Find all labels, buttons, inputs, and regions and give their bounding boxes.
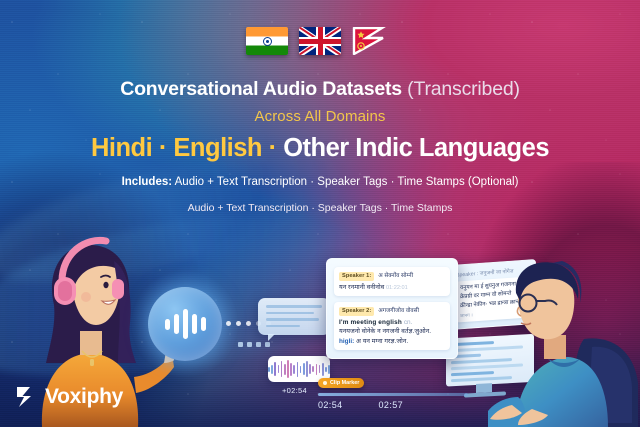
speaker-1-header: Speaker 1: अ सेक्नोंव सोम्नी: [339, 271, 445, 281]
feature-subline: Audio + Text Transcription · Speaker Tag…: [0, 202, 640, 214]
voxiphy-mark-icon: [16, 385, 38, 409]
timeline-time-start: 02:54: [318, 400, 343, 410]
headline-subtitle: Across All Domains: [0, 108, 640, 125]
includes-label: Includes:: [122, 176, 172, 188]
transcript-row-speaker-1[interactable]: Speaker 1: अ सेक्नोंव सोम्नी यन रनमानी व…: [334, 267, 450, 296]
speaker-1-body-text: यन रनमानी वनीनोव: [339, 284, 384, 291]
transcript-row-speaker-2[interactable]: Speaker 2: अगजगीजोव वोवसी I'm meeting en…: [334, 302, 450, 350]
timeline-timestamps: 02:54 02:57: [318, 400, 468, 410]
speaker-1-head-text: अ सेक्नोंव सोम्नी: [378, 271, 413, 279]
headline-primary-bold: Conversational Audio Datasets: [120, 78, 402, 100]
audio-waveform-icon: [148, 287, 222, 361]
ashoka-chakra-icon: [263, 37, 272, 46]
speaker-2-english-1: I'm meeting: [339, 319, 376, 326]
language-hindi: Hindi: [91, 134, 152, 162]
speaker-2-line-2: यनयजनो वोनेके न नगजनी वर्तज्ञ.जुओन.: [339, 327, 445, 337]
speaker-2-head-text: अगजगीजोव वोवसी: [378, 306, 419, 314]
brand-logo: Voxiphy: [16, 385, 123, 409]
waveform-timestamp: +02:54: [282, 386, 307, 395]
voice-orb: [148, 287, 222, 361]
language-other: Other Indic Languages: [283, 134, 549, 162]
speaker-1-tag: Speaker 1:: [339, 272, 374, 281]
flag-row: [0, 27, 640, 55]
speaker-2-english-2: english: [378, 319, 402, 326]
includes-value: Audio + Text Transcription · Speaker Tag…: [175, 176, 519, 188]
brand-name: Voxiphy: [45, 385, 123, 409]
speaker-2-tag: Speaker 2:: [339, 307, 374, 316]
speaker-2-line-3: higli: अ यन मग्ना गरज्ञ.जोन.: [339, 337, 445, 347]
poster-canvas: Conversational Audio Datasets (Transcrib…: [0, 0, 640, 427]
flag-nepal-icon: [352, 27, 394, 55]
headline-primary: Conversational Audio Datasets (Transcrib…: [0, 78, 640, 101]
includes-line: Includes: Audio + Text Transcription · S…: [0, 176, 640, 188]
language-headline: Hindi · English · Other Indic Languages: [0, 134, 640, 163]
headline-primary-light: (Transcribed): [407, 78, 520, 100]
chat-bubble-icon: [258, 298, 330, 335]
speaker-2-highlight: higli:: [339, 338, 354, 345]
language-separator-1: ·: [159, 134, 167, 162]
timeline-strip[interactable]: Clip Marker 02:54 02:57: [318, 372, 468, 410]
flag-united-kingdom-icon: [299, 27, 341, 55]
speaker-2-line-1-tail: cn.: [404, 319, 413, 326]
bubble-trail-dots: [238, 342, 270, 347]
flag-india-icon: [246, 27, 288, 55]
timeline-time-end: 02:57: [379, 400, 404, 410]
man-at-computer-illustration: [488, 247, 640, 427]
language-english: English: [173, 134, 262, 162]
speaker-1-body: यन रनमानी वनीनोव 01:22:01: [339, 283, 445, 293]
clip-marker-badge: Clip Marker: [318, 378, 364, 388]
speaker-2-line-1: I'm meeting english cn.: [339, 318, 445, 328]
headline-block: Conversational Audio Datasets (Transcrib…: [0, 78, 640, 214]
clip-marker-label: Clip Marker: [330, 380, 359, 386]
speaker-2-header: Speaker 2: अगजगीजोव वोवसी: [339, 306, 445, 316]
speaker-2-line-3-text: अ यन मग्ना गरज्ञ.जोन.: [356, 338, 408, 345]
clock-icon: [323, 381, 327, 385]
speaker-1-time: 01:22:01: [386, 285, 408, 291]
language-separator-2: ·: [269, 134, 277, 162]
timeline-track[interactable]: [318, 393, 468, 396]
transcript-panel[interactable]: Speaker 1: अ सेक्नोंव सोम्नी यन रनमानी व…: [326, 258, 458, 359]
